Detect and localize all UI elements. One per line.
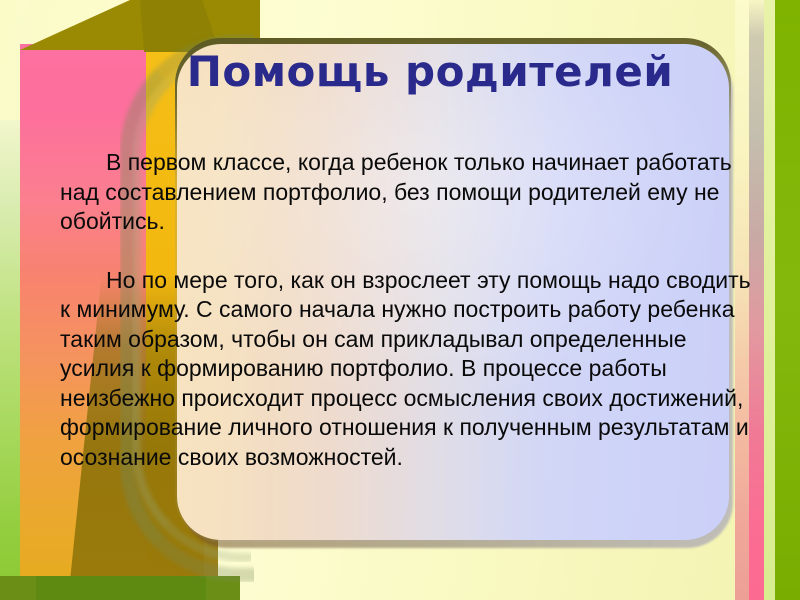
slide-title: Помощь родителей bbox=[160, 47, 700, 96]
body-paragraph: В первом классе, когда ребенок только на… bbox=[60, 148, 760, 237]
slide-body-text: В первом классе, когда ребенок только на… bbox=[60, 148, 760, 472]
body-paragraph: Но по мере того, как он взрослеет эту по… bbox=[60, 266, 760, 473]
left-green-strip-decoration bbox=[0, 120, 22, 600]
slide-canvas: Помощь родителей В первом классе, когда … bbox=[0, 0, 800, 600]
right-green-edge-decoration bbox=[775, 0, 800, 600]
bottom-green-bar-dark-decoration bbox=[36, 576, 206, 600]
